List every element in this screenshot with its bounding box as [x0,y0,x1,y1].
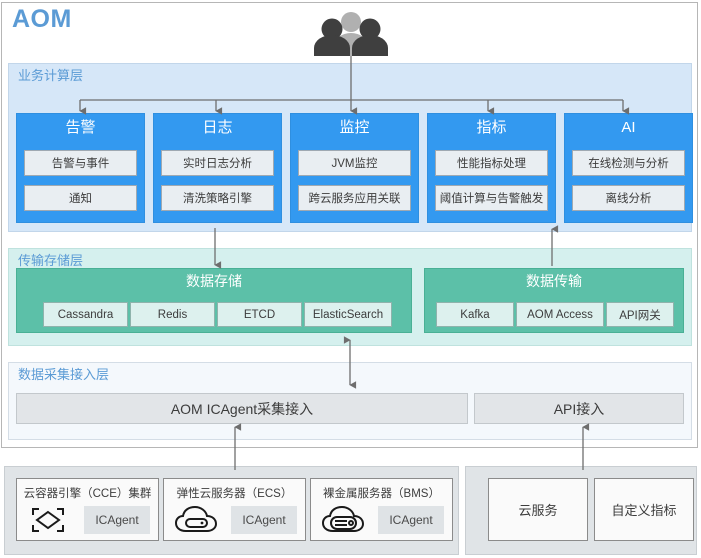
host-label: 云容器引擎（CCE）集群 [17,485,158,501]
users-group-icon [311,10,391,56]
column-title: 日志 [154,120,281,137]
layer-label-collect: 数据采集接入层 [18,368,109,381]
compute-column-metric[interactable]: 指标 性能指标处理 阈值计算与告警触发 [427,113,556,223]
host-label: 弹性云服务器（ECS） [164,485,305,501]
collect-box-icagent[interactable]: AOM ICAgent采集接入 [16,393,468,424]
storage-block-data-storage[interactable]: 数据存储 Cassandra Redis ETCD ElasticSearch [16,268,412,333]
icagent-badge: ICAgent [231,506,297,534]
column-title: 指标 [428,120,555,137]
transport-item[interactable]: Kafka [436,302,514,327]
cloud-server-icon [174,505,220,535]
column-item[interactable]: 阈值计算与告警触发 [435,185,548,211]
column-item[interactable]: 跨云服务应用关联 [298,185,411,211]
column-title: 告警 [17,120,144,137]
layer-label-compute: 业务计算层 [18,69,83,82]
host-cce-cluster[interactable]: 云容器引擎（CCE）集群 ICAgent [16,478,159,541]
column-item[interactable]: 清洗策略引擎 [161,185,274,211]
collect-box-api[interactable]: API接入 [474,393,684,424]
column-title: 监控 [291,120,418,137]
compute-column-log[interactable]: 日志 实时日志分析 清洗策略引擎 [153,113,282,223]
infrastructure-group-hosts: 云容器引擎（CCE）集群 ICAgent 弹性云服务器（ECS） ICAgent… [4,466,459,555]
storage-item[interactable]: ETCD [217,302,302,327]
architecture-diagram: AOM 业务计算层 告警 告警与事件 通知 日志 实时日志分析 清洗策略引擎 监… [0,0,701,558]
block-title: 数据传输 [425,274,683,289]
column-item[interactable]: JVM监控 [298,150,411,176]
page-title: AOM [12,7,72,32]
compute-column-ai[interactable]: AI 在线检测与分析 离线分析 [564,113,693,223]
block-title: 数据存储 [17,274,411,289]
storage-item[interactable]: Redis [130,302,215,327]
column-item[interactable]: 性能指标处理 [435,150,548,176]
column-item[interactable]: 实时日志分析 [161,150,274,176]
compute-column-monitor[interactable]: 监控 JVM监控 跨云服务应用关联 [290,113,419,223]
host-bms[interactable]: 裸金属服务器（BMS） ICAgent [310,478,453,541]
service-box-custom-metric[interactable]: 自定义指标 [594,478,694,541]
column-item[interactable]: 离线分析 [572,185,685,211]
service-box-cloud-service[interactable]: 云服务 [488,478,588,541]
host-ecs[interactable]: 弹性云服务器（ECS） ICAgent [163,478,306,541]
layer-label-storage: 传输存储层 [18,254,83,267]
infrastructure-group-services: 云服务 自定义指标 [465,466,697,555]
bare-metal-server-icon [321,505,367,535]
host-label: 裸金属服务器（BMS） [311,485,452,501]
storage-item[interactable]: Cassandra [43,302,128,327]
icagent-badge: ICAgent [378,506,444,534]
cce-cluster-icon [27,505,73,535]
column-item[interactable]: 在线检测与分析 [572,150,685,176]
column-title: AI [565,120,692,137]
transport-item[interactable]: API网关 [606,302,674,327]
transport-item[interactable]: AOM Access [516,302,604,327]
compute-column-alarm[interactable]: 告警 告警与事件 通知 [16,113,145,223]
column-item[interactable]: 告警与事件 [24,150,137,176]
storage-item[interactable]: ElasticSearch [304,302,392,327]
storage-block-data-transport[interactable]: 数据传输 Kafka AOM Access API网关 [424,268,684,333]
icagent-badge: ICAgent [84,506,150,534]
column-item[interactable]: 通知 [24,185,137,211]
